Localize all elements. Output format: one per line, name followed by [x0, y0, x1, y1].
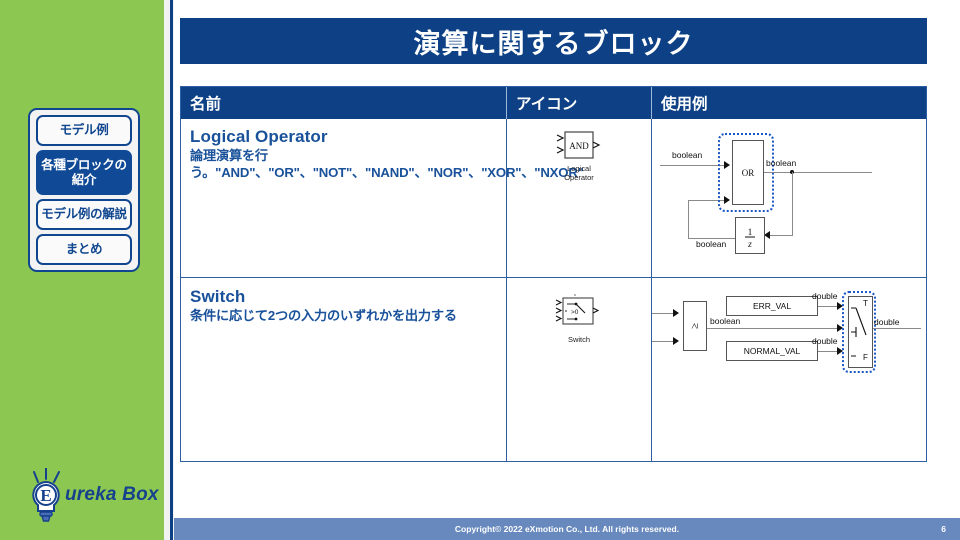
label-double-normal: double	[812, 336, 838, 346]
block-normal-val: NORMAL_VAL	[726, 341, 818, 361]
icon-switch: >0 Switch	[507, 292, 651, 344]
svg-text:E: E	[40, 486, 51, 505]
block-name-logical-operator: Logical Operator	[190, 127, 496, 147]
block-name-switch: Switch	[190, 287, 496, 307]
wire-compare-in1	[652, 313, 674, 314]
block-unit-delay: 1 z	[735, 217, 765, 254]
icon-caption-logical-operator: Logical Operator	[564, 164, 594, 183]
table-header-example: 使用例	[652, 87, 926, 119]
switch-contacts-glyph	[849, 297, 872, 367]
table-header-icon: アイコン	[507, 87, 651, 119]
icon-caption-switch: Switch	[568, 335, 590, 344]
wire-to-delay	[770, 235, 792, 236]
example-diagram-switch: ≥ boolean ERR_VAL double NORMAL_VAL doub…	[652, 283, 926, 423]
wire-boolean-to-switch	[707, 328, 838, 329]
label-double-err: double	[812, 291, 838, 301]
wire-feedback-down	[792, 172, 793, 236]
svg-text:z: z	[747, 240, 752, 248]
one-over-z-glyph: 1 z	[743, 224, 757, 248]
svg-text:AND: AND	[569, 141, 589, 151]
sidebar-nav-panel: モデル例 各種ブロックの紹介 モデル例の解説 まとめ	[28, 108, 140, 272]
label-boolean: boolean	[710, 316, 740, 326]
wire-input-top	[660, 165, 725, 166]
copyright-text: Copyright© 2022 eXmotion Co., Ltd. All r…	[174, 518, 960, 540]
wire-or-output	[764, 172, 872, 173]
page-number: 6	[941, 518, 946, 540]
page-title: 演算に関するブロック	[414, 22, 694, 61]
wire-switch-output	[873, 328, 921, 329]
label-double-output: double	[874, 317, 900, 327]
svg-text:>0: >0	[571, 309, 579, 316]
label-boolean-input: boolean	[672, 150, 702, 160]
block-desc-logical-operator: 論理演算を行う。"AND"、"OR"、"NOT"、"NAND"、"NOR"、"X…	[190, 148, 496, 182]
sidebar-item-model-example[interactable]: モデル例	[36, 115, 132, 146]
wire-err-to-switch	[818, 306, 838, 307]
arrow-compare-in2	[673, 337, 679, 345]
block-switch: T F	[848, 296, 873, 368]
blocks-table: 名前 アイコン 使用例 Logical Operator 論理演算を行う。"AN…	[180, 86, 927, 462]
logo-wordmark: ureka Box	[65, 484, 159, 506]
label-switch-true: T	[863, 299, 868, 308]
table-header-name: 名前	[181, 87, 506, 119]
block-desc-switch: 条件に応じて2つの入力のいずれかを出力する	[190, 308, 496, 325]
block-compare: ≥	[683, 301, 707, 351]
label-boolean-feedback: boolean	[696, 239, 726, 249]
sidebar-accent-line	[170, 0, 173, 540]
sidebar-item-model-explanation[interactable]: モデル例の解説	[36, 199, 132, 230]
and-gate-icon: AND	[543, 129, 615, 161]
table-row: Switch 条件に応じて2つの入力のいずれかを出力する	[181, 279, 506, 325]
slide-title-bar: 演算に関するブロック	[180, 18, 927, 64]
switch-block-icon: >0	[543, 292, 615, 332]
sidebar-item-block-intro[interactable]: 各種ブロックの紹介	[36, 150, 132, 196]
example-diagram-logical-operator: OR 1 z boolean boolean boolean	[652, 120, 926, 276]
label-switch-false: F	[863, 353, 868, 362]
table-row: Logical Operator 論理演算を行う。"AND"、"OR"、"NOT…	[181, 119, 506, 182]
icon-logical-operator: AND Logical Operator	[507, 129, 651, 183]
sidebar-item-summary[interactable]: まとめ	[36, 234, 132, 265]
wire-compare-in2	[652, 341, 674, 342]
wire-normal-to-switch	[818, 351, 838, 352]
slide-footer: Copyright© 2022 eXmotion Co., Ltd. All r…	[174, 518, 960, 540]
arrow-compare-in1	[673, 309, 679, 317]
block-or: OR	[732, 140, 764, 205]
label-boolean-output: boolean	[766, 158, 796, 168]
row-divider	[181, 277, 926, 278]
wire-feedback-vert	[688, 200, 689, 239]
eureka-box-logo: E ureka Box	[22, 468, 162, 530]
block-err-val: ERR_VAL	[726, 296, 818, 316]
